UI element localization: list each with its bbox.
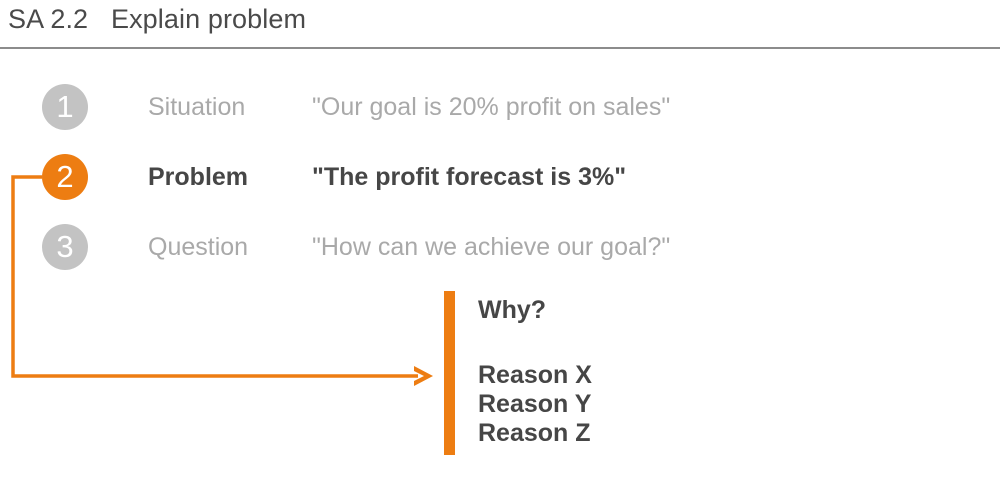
scq-quote-problem: "The profit forecast is 3%" xyxy=(312,158,626,196)
step-badge-3[interactable]: 3 xyxy=(42,224,88,270)
scq-quote-question: "How can we achieve our goal?" xyxy=(312,228,670,266)
why-heading: Why? xyxy=(478,294,546,326)
page-title: SA 2.2 Explain problem xyxy=(8,4,306,35)
scq-label-question: Question xyxy=(148,228,248,266)
scq-row-situation: 1 Situation "Our goal is 20% profit on s… xyxy=(0,84,1000,130)
list-item: Reason X xyxy=(478,361,592,390)
scq-row-problem: 2 Problem "The profit forecast is 3%" xyxy=(0,154,1000,200)
list-item: Reason Z xyxy=(478,419,592,448)
scq-row-question: 3 Question "How can we achieve our goal?… xyxy=(0,224,1000,270)
list-item: Reason Y xyxy=(478,390,592,419)
scq-quote-situation: "Our goal is 20% profit on sales" xyxy=(312,88,670,126)
step-badge-2[interactable]: 2 xyxy=(42,154,88,200)
scq-label-problem: Problem xyxy=(148,158,248,196)
step-badge-1[interactable]: 1 xyxy=(42,84,88,130)
why-accent-bar xyxy=(444,291,455,455)
header-divider xyxy=(0,47,1000,49)
scq-label-situation: Situation xyxy=(148,88,245,126)
slide-canvas: SA 2.2 Explain problem 1 Situation "Our … xyxy=(0,0,1000,478)
reason-list: Reason X Reason Y Reason Z xyxy=(478,361,592,448)
